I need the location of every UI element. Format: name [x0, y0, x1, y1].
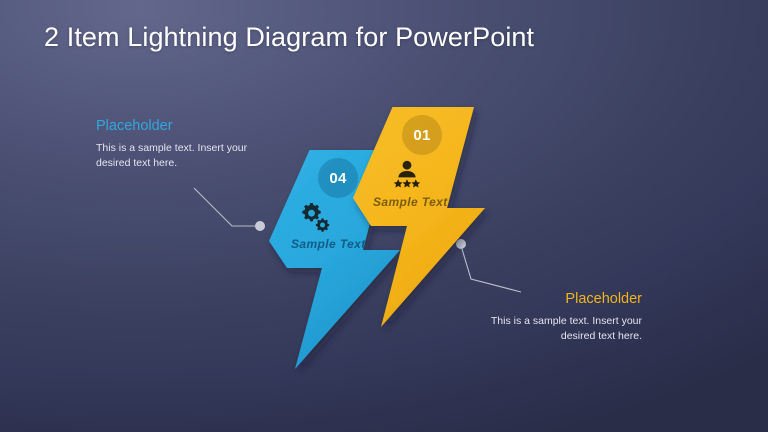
callout-left: Placeholder This is a sample text. Inser…: [96, 118, 248, 171]
callout-right-body: This is a sample text. Insert your desir…: [470, 314, 642, 344]
slide-canvas: 2 Item Lightning Diagram for PowerPoint: [0, 0, 768, 432]
bolt-label-gold: Sample Text: [373, 195, 448, 209]
user-rating-stars-icon: [390, 159, 424, 189]
callout-right: Placeholder This is a sample text. Inser…: [470, 291, 642, 344]
lightning-diagram: [0, 0, 768, 432]
bolt-number-badge-blue: 04: [318, 158, 358, 198]
callout-right-title: Placeholder: [470, 291, 642, 307]
gears-icon: [298, 202, 332, 232]
bolt-label-blue: Sample Text: [291, 237, 366, 251]
callout-left-body: This is a sample text. Insert your desir…: [96, 141, 248, 171]
callout-left-title: Placeholder: [96, 118, 248, 134]
bolt-number-badge-gold: 01: [402, 115, 442, 155]
